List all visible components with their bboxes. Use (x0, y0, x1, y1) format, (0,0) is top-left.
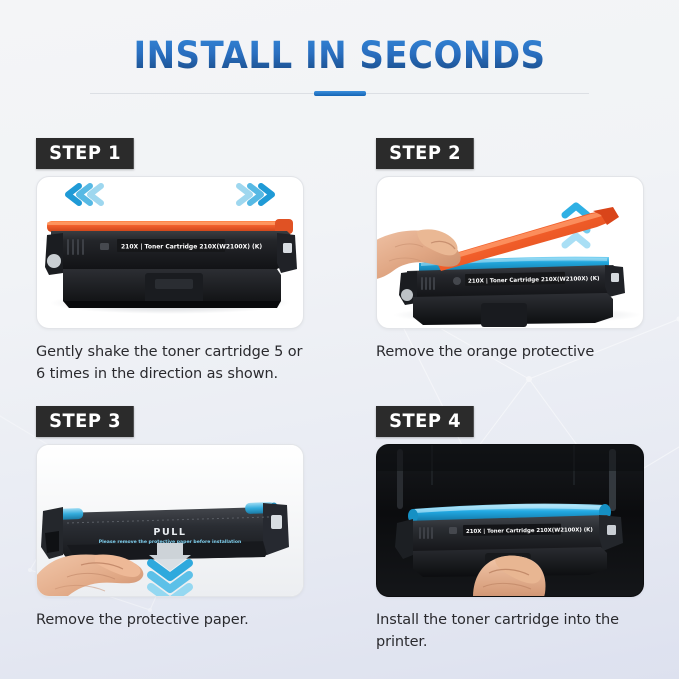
shake-arrows-right (239, 186, 272, 203)
step-1-image-card: 210X | Toner Cartridge 210X(W2100X) (K) (36, 176, 304, 329)
step-1-cartridge-label: 210X | Toner Cartridge 210X(W2100X) (K) (121, 244, 262, 251)
title-divider (90, 91, 589, 97)
step-3-image-card: PULL Please remove the protective paper … (36, 444, 304, 597)
step-4-caption: Install the toner cartridge into the pri… (376, 609, 648, 654)
step-2-image-card: 210X | Toner Cartridge 210X(W2100X) (K) (376, 176, 644, 329)
step-3-illustration: PULL Please remove the protective paper … (37, 445, 303, 596)
page-title: INSTALL IN SECONDS (27, 34, 652, 77)
step-1-caption: Gently shake the toner cartridge 5 or 6 … (36, 341, 308, 386)
step-4-illustration: 210X | Toner Cartridge 210X(W2100X) (K) (377, 445, 643, 596)
divider-accent (314, 91, 366, 96)
step-2-badge: STEP 2 (376, 138, 474, 169)
step-2-illustration: 210X | Toner Cartridge 210X(W2100X) (K) (377, 177, 643, 328)
step-3: STEP 3 (36, 406, 304, 631)
shake-arrows-left (68, 186, 101, 203)
step-1: STEP 1 (36, 138, 304, 386)
step-4-image-card: 210X | Toner Cartridge 210X(W2100X) (K) (376, 444, 644, 597)
step-1-badge: STEP 1 (36, 138, 134, 169)
install-guide-page: INSTALL IN SECONDS STEP 1 (0, 0, 679, 679)
step-3-badge: STEP 3 (36, 406, 134, 437)
step-1-illustration: 210X | Toner Cartridge 210X(W2100X) (K) (37, 177, 303, 328)
pull-label: PULL (153, 527, 186, 538)
step-4: STEP 4 (376, 406, 644, 654)
step-3-caption: Remove the protective paper. (36, 609, 308, 631)
step-4-badge: STEP 4 (376, 406, 474, 437)
step-2: STEP 2 (376, 138, 644, 363)
step-2-caption: Remove the orange protective (376, 341, 648, 363)
